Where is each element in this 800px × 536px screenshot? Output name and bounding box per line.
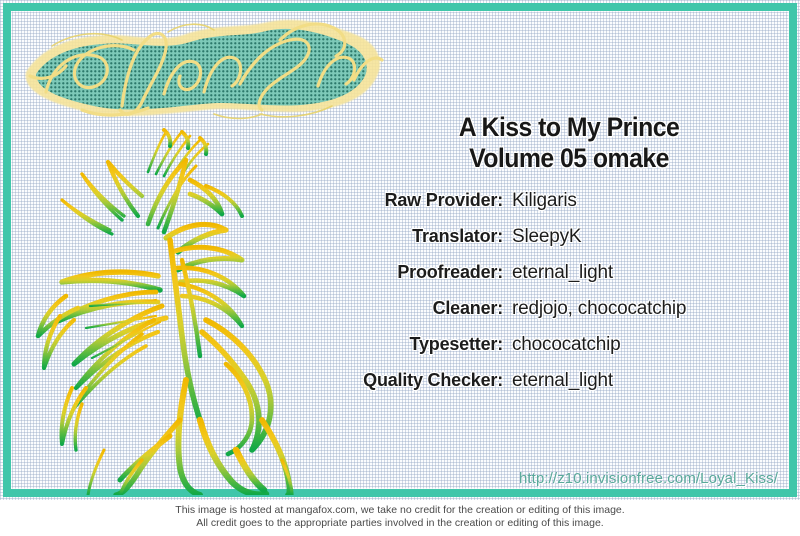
credit-label: Raw Provider: <box>330 190 512 211</box>
manga-credits-page: A Kiss to My Prince Volume 05 omake Raw … <box>0 0 800 536</box>
credit-value: Kiligaris <box>512 190 790 212</box>
footer-line-1: This image is hosted at mangafox.com, we… <box>0 504 800 517</box>
credit-label: Quality Checker: <box>330 370 512 391</box>
decorative-script-logo <box>18 10 390 122</box>
credits-list: Raw Provider: Kiligaris Translator: Slee… <box>330 190 790 406</box>
credit-row-proofreader: Proofreader: eternal_light <box>330 262 790 298</box>
credit-value: chococatchip <box>512 334 790 356</box>
credit-row-cleaner: Cleaner: redjojo, chococatchip <box>330 298 790 334</box>
page-canvas: A Kiss to My Prince Volume 05 omake Raw … <box>0 0 800 500</box>
credit-label: Typesetter: <box>330 334 512 355</box>
credit-value: SleepyK <box>512 226 790 248</box>
credit-label: Cleaner: <box>330 298 512 319</box>
page-title: A Kiss to My Prince Volume 05 omake <box>350 112 788 174</box>
footer-disclaimer: This image is hosted at mangafox.com, we… <box>0 500 800 536</box>
site-url-link[interactable]: http://z10.invisionfree.com/Loyal_Kiss/ <box>519 470 778 487</box>
title-line-2: Volume 05 omake <box>368 143 771 174</box>
title-line-1: A Kiss to My Prince <box>368 112 771 143</box>
credit-row-typesetter: Typesetter: chococatchip <box>330 334 790 370</box>
credit-value: eternal_light <box>512 370 790 392</box>
credit-row-raw-provider: Raw Provider: Kiligaris <box>330 190 790 226</box>
credit-label: Translator: <box>330 226 512 247</box>
credit-value: redjojo, chococatchip <box>512 298 790 320</box>
footer-line-2: All credit goes to the appropriate parti… <box>0 517 800 530</box>
credit-label: Proofreader: <box>330 262 512 283</box>
credit-row-translator: Translator: SleepyK <box>330 226 790 262</box>
credit-row-quality-checker: Quality Checker: eternal_light <box>330 370 790 406</box>
credit-value: eternal_light <box>512 262 790 284</box>
lily-flower-line-art <box>30 120 340 495</box>
